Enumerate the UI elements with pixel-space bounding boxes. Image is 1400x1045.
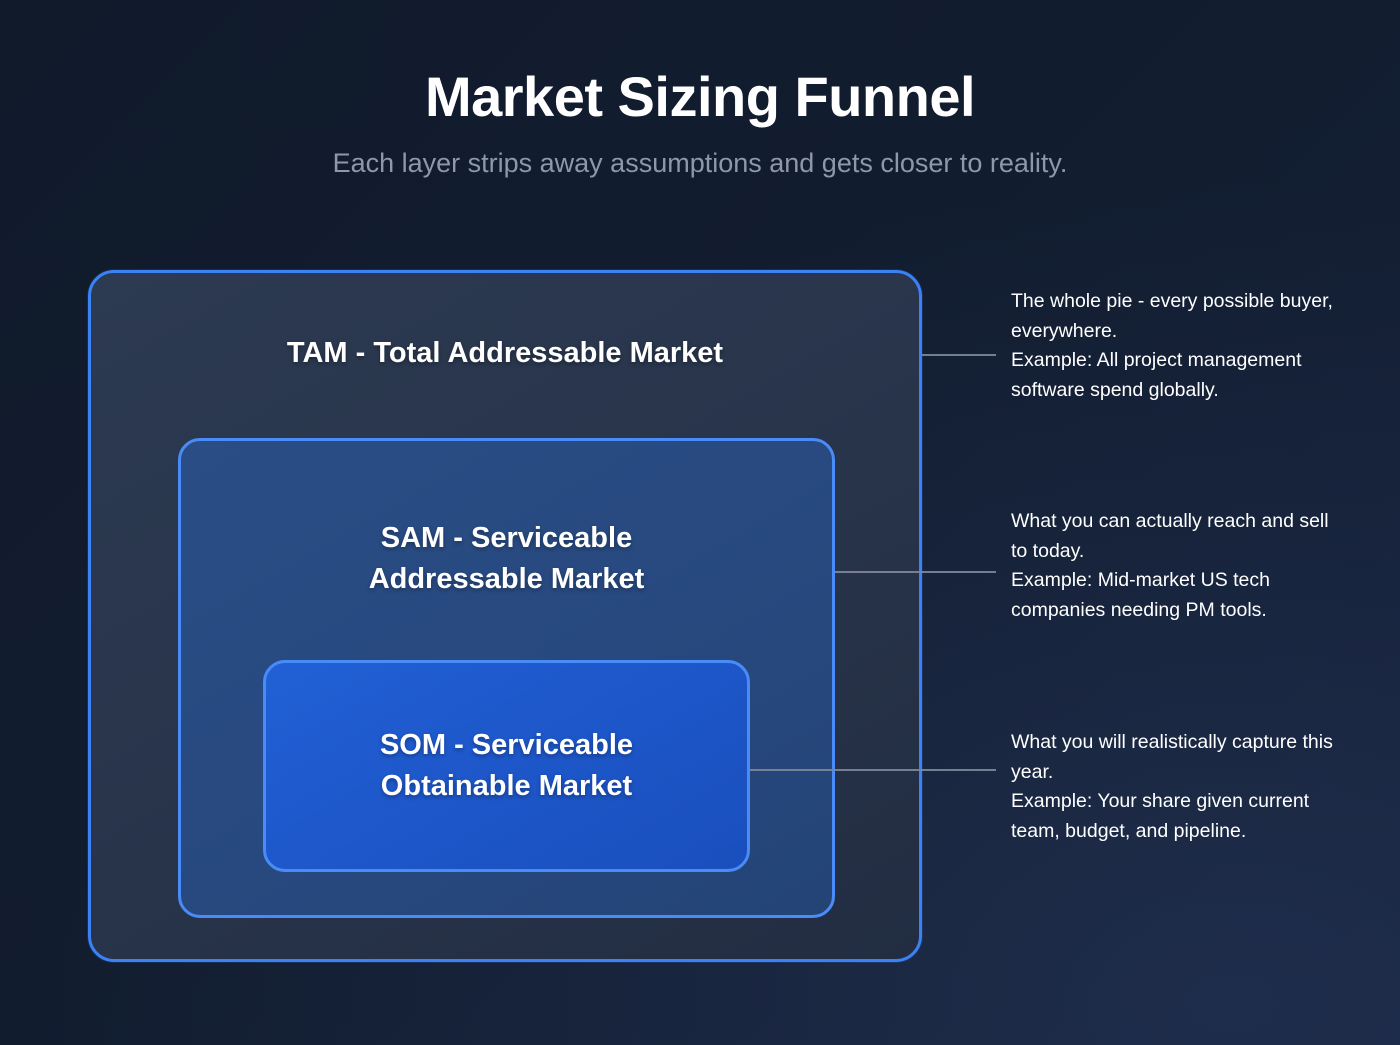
annotation-sam: What you can actually reach and sell to … (1011, 507, 1341, 625)
market-sizing-funnel-diagram: TAM - Total Addressable Market SAM - Ser… (0, 0, 1400, 1045)
connector-line-som (750, 769, 996, 771)
annotation-tam: The whole pie - every possible buyer, ev… (1011, 287, 1341, 405)
annotation-som: What you will realistically capture this… (1011, 728, 1341, 846)
funnel-layer-som: SOM - Serviceable Obtainable Market (263, 660, 750, 872)
connector-line-tam (922, 354, 996, 356)
funnel-layer-som-label: SOM - Serviceable Obtainable Market (380, 725, 633, 869)
connector-line-sam (835, 571, 996, 573)
